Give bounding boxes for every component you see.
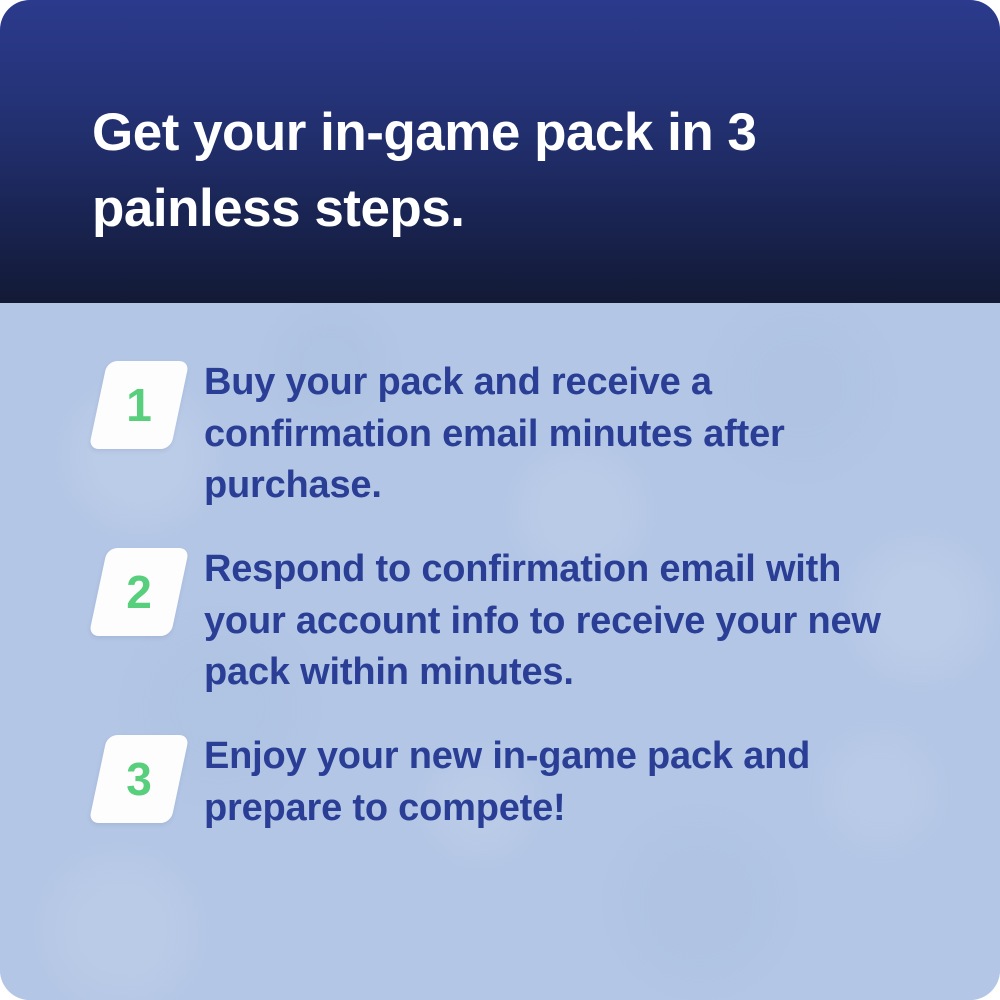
step-badge-1: 1 — [98, 361, 180, 449]
list-item: 3 Enjoy your new in-game pack and prepar… — [98, 729, 930, 834]
list-item: 1 Buy your pack and receive a confirmati… — [98, 355, 930, 512]
steps-list: 1 Buy your pack and receive a confirmati… — [98, 355, 930, 834]
card-header: Get your in-game pack in 3 painless step… — [0, 0, 1000, 303]
card-body: 1 Buy your pack and receive a confirmati… — [0, 303, 1000, 1000]
list-item: 2 Respond to confirmation email with you… — [98, 542, 930, 699]
step-number-label: 3 — [98, 735, 180, 823]
step-badge-2: 2 — [98, 548, 180, 636]
step-description: Buy your pack and receive a confirmation… — [204, 355, 884, 512]
step-number-label: 2 — [98, 548, 180, 636]
step-description: Respond to confirmation email with your … — [204, 542, 884, 699]
step-description: Enjoy your new in-game pack and prepare … — [204, 729, 884, 834]
promo-card: Get your in-game pack in 3 painless step… — [0, 0, 1000, 1000]
page-title: Get your in-game pack in 3 painless step… — [92, 57, 832, 246]
step-number-label: 1 — [98, 361, 180, 449]
step-badge-3: 3 — [98, 735, 180, 823]
